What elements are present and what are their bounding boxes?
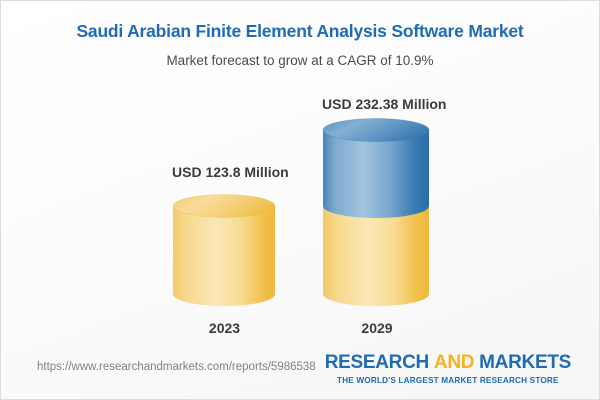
logo-word-research: RESEARCH xyxy=(325,352,429,373)
logo-tagline: THE WORLD'S LARGEST MARKET RESEARCH STOR… xyxy=(325,376,571,385)
bar-value-label-2029: USD 232.38 Million xyxy=(322,96,432,112)
infographic-card: Saudi Arabian Finite Element Analysis So… xyxy=(0,0,600,400)
source-url-link[interactable]: https://www.researchandmarkets.com/repor… xyxy=(37,361,316,373)
bar-segment-growth-2029 xyxy=(323,130,429,218)
bar-category-label-2029: 2029 xyxy=(322,320,432,336)
chart-footer: https://www.researchandmarkets.com/repor… xyxy=(1,344,599,399)
bar-segment-base-2029 xyxy=(323,206,429,306)
research-and-markets-logo[interactable]: RESEARCH AND MARKETS THE WORLD'S LARGEST… xyxy=(325,352,571,385)
logo-word-markets: MARKETS xyxy=(479,352,571,373)
bar-group-2029: USD 232.38 Million xyxy=(322,118,432,308)
bar-body-2023 xyxy=(173,206,275,306)
cylinder-bar-2023 xyxy=(172,194,277,308)
logo-word-and: AND xyxy=(429,352,479,373)
bar-value-label-2023: USD 123.8 Million xyxy=(172,164,277,180)
cylinder-bar-2029 xyxy=(322,118,432,308)
logo-wordmark: RESEARCH AND MARKETS xyxy=(325,352,571,374)
logo-word-and-text: AND xyxy=(434,352,474,373)
bar-group-2023: USD 123.8 Million xyxy=(172,194,277,308)
chart-plot-area: USD 123.8 Million xyxy=(1,1,600,346)
bar-category-label-2023: 2023 xyxy=(172,320,277,336)
